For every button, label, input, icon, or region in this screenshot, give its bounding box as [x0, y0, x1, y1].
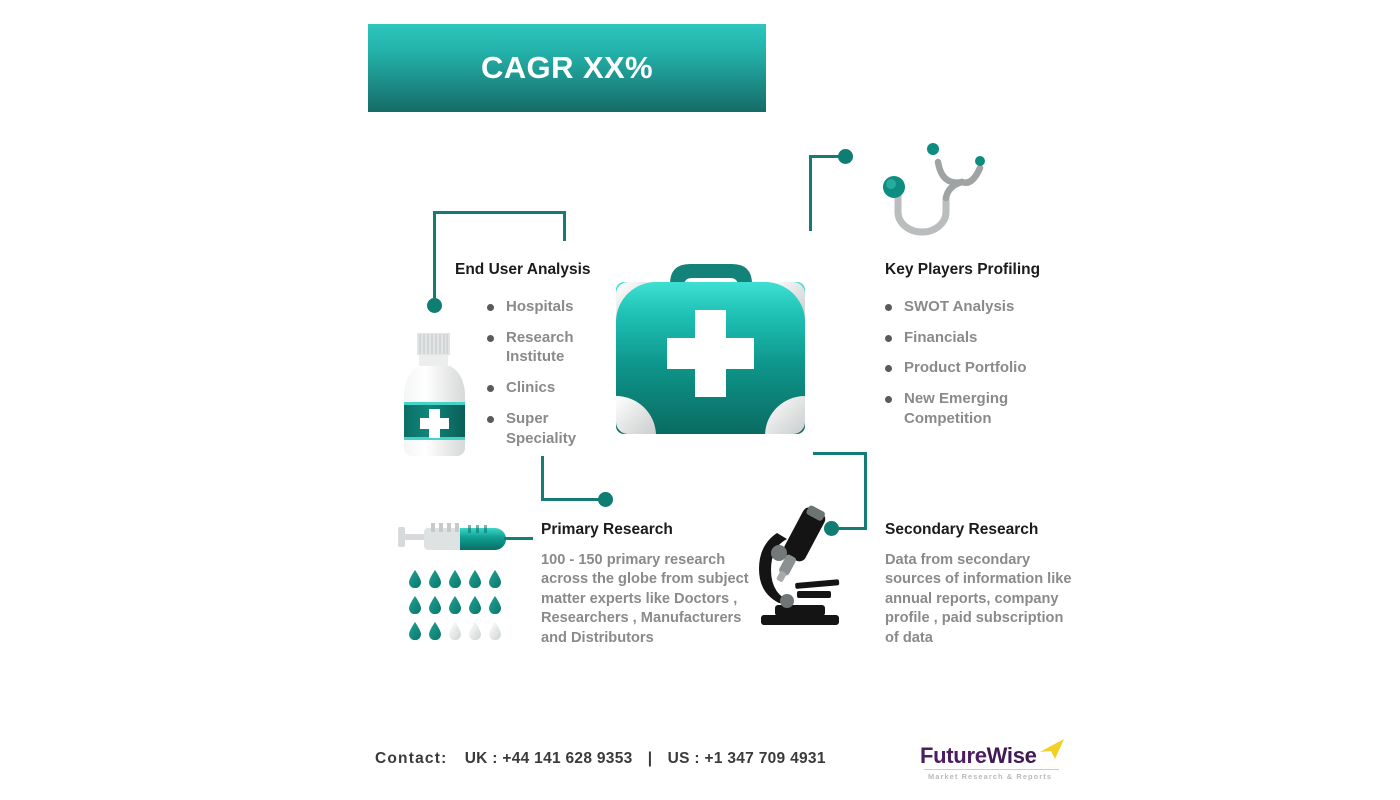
droplet-grid-icon — [408, 570, 504, 642]
logo-name-part-1: Future — [920, 743, 987, 768]
logo-divider — [924, 769, 1059, 770]
contact-line: Contact: UK : +44 141 628 9353 | US : +1… — [375, 750, 826, 768]
logo-wordmark: FutureWise — [920, 743, 1037, 769]
list-item: SWOT Analysis — [885, 297, 1050, 317]
list-item: Hospitals — [487, 297, 597, 317]
list-item: Clinics — [487, 378, 597, 398]
stethoscope-icon — [876, 140, 991, 245]
primary-research-heading: Primary Research — [541, 521, 673, 539]
logo-name-part-2: Wise — [987, 743, 1037, 768]
logo-tagline: Market Research & Reports — [928, 772, 1052, 781]
logo-arrow-icon — [1039, 738, 1065, 762]
connector-key-players-vertical — [809, 155, 812, 231]
infographic-canvas: CAGR XX% — [0, 0, 1400, 800]
list-item: New Emerging Competition — [885, 389, 1050, 428]
list-item: Product Portfolio — [885, 358, 1050, 378]
contact-uk: UK : +44 141 628 9353 — [465, 750, 633, 767]
connector-primary-horizontal — [541, 498, 604, 501]
connector-end-user-horizontal — [433, 211, 566, 214]
connector-primary-vertical — [541, 456, 544, 501]
microscope-icon — [757, 505, 849, 627]
syringe-icon — [398, 520, 533, 564]
futurewise-logo[interactable]: FutureWise Market Research & Reports — [920, 738, 1065, 788]
connector-key-players-dot — [838, 149, 853, 164]
end-user-heading: End User Analysis — [455, 261, 591, 279]
connector-end-user-right-vertical — [563, 211, 566, 241]
list-item: Super Speciality — [487, 409, 597, 448]
contact-label: Contact: — [375, 750, 447, 767]
cagr-banner-label: CAGR XX% — [481, 50, 653, 86]
key-players-bullet-list: SWOT Analysis Financials Product Portfol… — [885, 297, 1050, 440]
cagr-banner: CAGR XX% — [368, 24, 766, 112]
contact-separator: | — [648, 750, 653, 767]
key-players-heading: Key Players Profiling — [885, 261, 1040, 279]
connector-end-user-left-vertical — [433, 211, 436, 306]
end-user-bullet-list: Hospitals Research Institute Clinics Sup… — [487, 297, 597, 459]
contact-us: US : +1 347 709 4931 — [668, 750, 826, 767]
primary-research-body: 100 - 150 primary research across the gl… — [541, 551, 749, 648]
secondary-research-body: Data from secondary sources of informati… — [885, 551, 1077, 648]
connector-end-user-dot — [427, 298, 442, 313]
list-item: Financials — [885, 328, 1050, 348]
secondary-research-heading: Secondary Research — [885, 521, 1038, 539]
connector-secondary-vertical — [864, 452, 867, 529]
list-item: Research Institute — [487, 328, 597, 367]
medical-briefcase-icon — [608, 248, 813, 443]
connector-secondary-horizontal-top — [813, 452, 867, 455]
medicine-bottle-icon — [398, 333, 471, 459]
connector-primary-dot — [598, 492, 613, 507]
